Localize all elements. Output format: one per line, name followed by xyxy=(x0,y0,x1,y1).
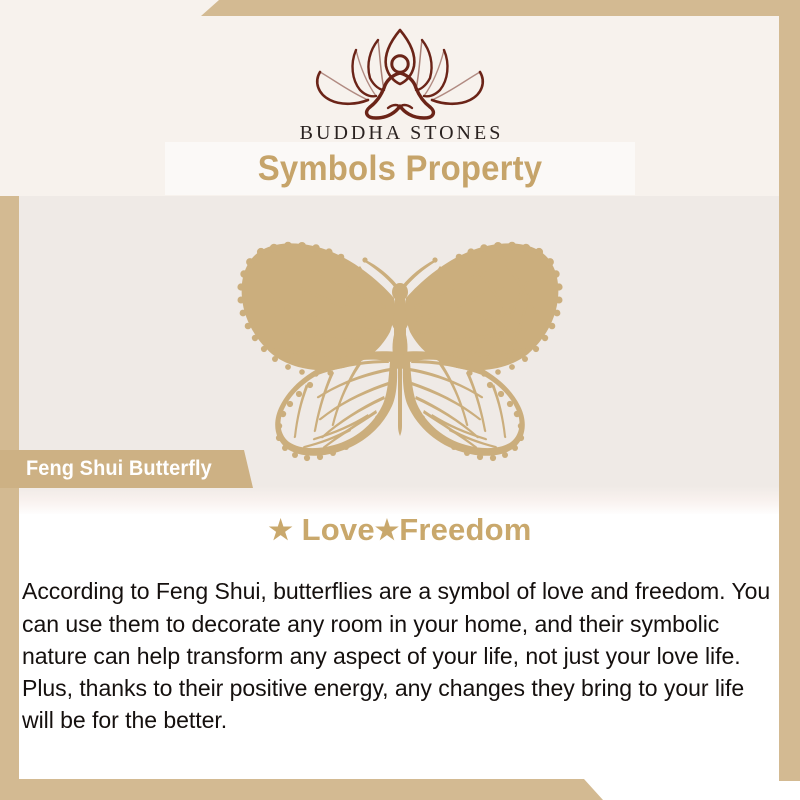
star-middle-icon: ★ xyxy=(375,515,399,545)
star-left-icon: ★ xyxy=(268,515,292,545)
heading-word-love: Love xyxy=(293,512,375,547)
heading-word-freedom: Freedom xyxy=(399,512,531,547)
section-heading: ★ Love★Freedom xyxy=(0,512,800,548)
ribbon-label: Feng Shui Butterfly xyxy=(26,450,212,488)
body-paragraph: According to Feng Shui, butterflies are … xyxy=(22,575,780,736)
infographic-page: BUDDHA STONES Symbols Property xyxy=(0,0,800,800)
brand-logo: BUDDHA STONES xyxy=(0,24,800,145)
page-title: Symbols Property xyxy=(179,142,621,195)
frame-border-left xyxy=(0,196,19,781)
lotus-meditation-icon xyxy=(300,24,500,120)
butterfly-icon xyxy=(228,236,572,464)
